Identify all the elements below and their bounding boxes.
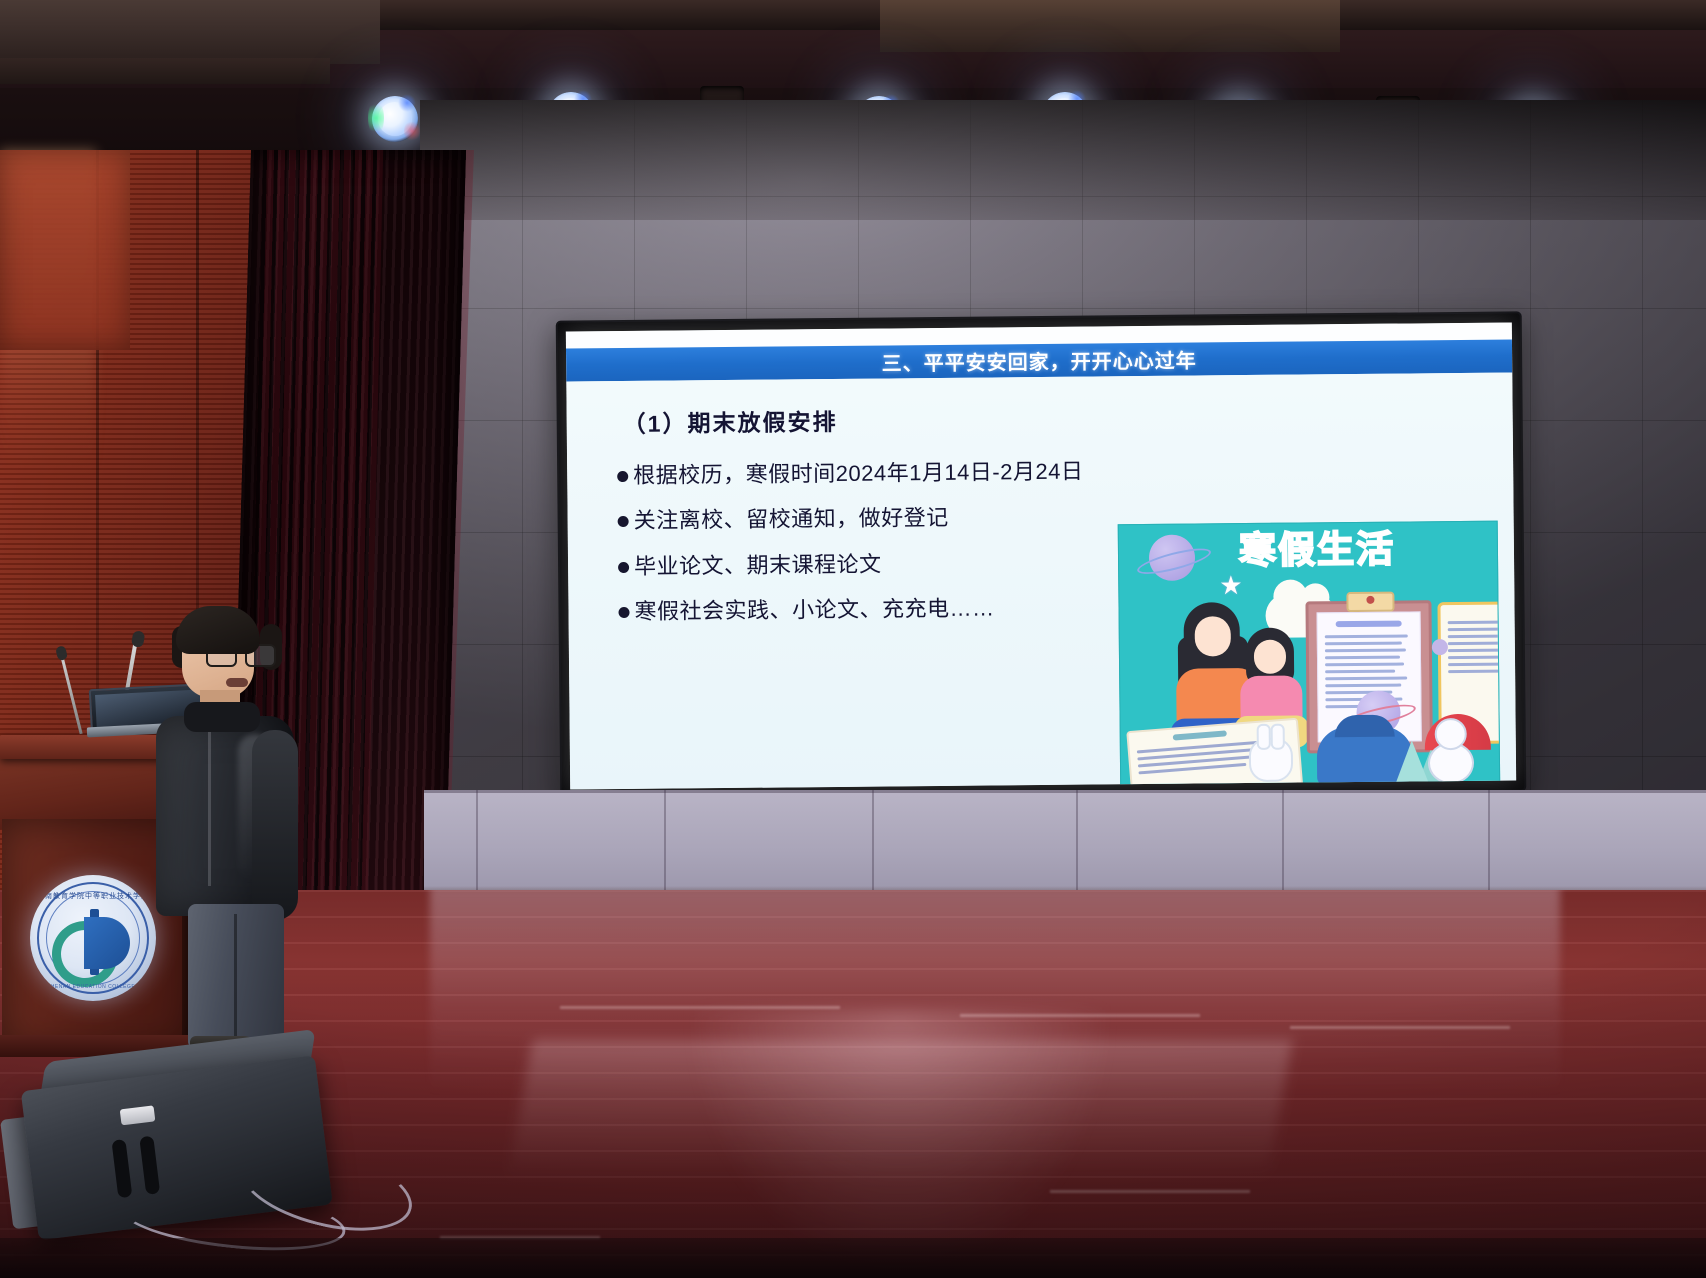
poster-title-char: 寒: [1239, 532, 1278, 569]
bottom-shadow: [0, 1238, 1706, 1278]
presenter-arm: [252, 730, 298, 920]
auditorium-photo: 三、平平安安回家，开开心心过年 （1）期末放假安排 根据校历，寒假时间2024年…: [0, 0, 1706, 1278]
star-icon: ★: [1219, 570, 1243, 601]
red-wall-upper: [0, 150, 130, 350]
presenter-person: [160, 612, 290, 1042]
poster-title: 寒假生活: [1239, 531, 1395, 569]
scroll-caption: [1173, 730, 1227, 740]
text-lines: [1448, 620, 1501, 677]
bunny-icon: [1249, 738, 1293, 782]
bullet-dot-icon: [617, 471, 628, 482]
speaker-badge: [120, 1105, 156, 1125]
bullet-dot-icon: [618, 516, 629, 527]
bullet-dot-icon: [618, 607, 629, 618]
slide-section-heading: （1）期末放假安排: [623, 403, 838, 439]
stage-front-panels: [424, 790, 1706, 900]
stage-light: [372, 96, 418, 142]
bullet-text: 寒假社会实践、小论文、充充电……: [634, 595, 994, 624]
bullet-text: 毕业论文、期末课程论文: [634, 551, 882, 579]
list-item: 根据校历，寒假时间2024年1月14日-2月24日: [617, 457, 1257, 488]
planet-icon: [1149, 535, 1195, 581]
school-emblem-logo: 河南教育学院中等职业技术学院 HENAN EDUCATION COLLEGE: [30, 875, 156, 1001]
emblem-bottom-text: HENAN EDUCATION COLLEGE: [30, 984, 156, 990]
projection-screen: 三、平平安安回家，开开心心过年 （1）期末放假安排 根据校历，寒假时间2024年…: [558, 313, 1525, 798]
bullet-dot-icon: [618, 562, 629, 573]
slide-banner-title: 三、平平安安回家，开开心心过年: [881, 344, 1196, 376]
clipboard-caption: [1336, 621, 1402, 628]
winter-vacation-poster-image: ★ ★ 寒假生活: [1118, 521, 1501, 789]
bullet-text: 根据校历，寒假时间2024年1月14日-2月24日: [633, 459, 1083, 489]
poster-title-char: 活: [1356, 531, 1395, 568]
ceiling-beam: [880, 0, 1340, 52]
emblem-top-text: 河南教育学院中等职业技术学院: [30, 891, 156, 901]
presenter-legs: [188, 904, 284, 1046]
poster-title-char: 假: [1278, 531, 1317, 568]
ceiling-beam: [0, 58, 330, 84]
ceiling-beam: [0, 0, 380, 64]
slide-body: （1）期末放假安排 根据校历，寒假时间2024年1月14日-2月24日 关注离校…: [566, 372, 1516, 789]
presenter-hair: [176, 606, 260, 654]
poster-title-char: 生: [1317, 531, 1356, 568]
presentation-slide: 三、平平安安回家，开开心心过年 （1）期末放假安排 根据校历，寒假时间2024年…: [566, 322, 1516, 789]
snowman-icon: [1425, 718, 1474, 782]
bullet-text: 关注离校、留校通知，做好登记: [634, 505, 949, 533]
